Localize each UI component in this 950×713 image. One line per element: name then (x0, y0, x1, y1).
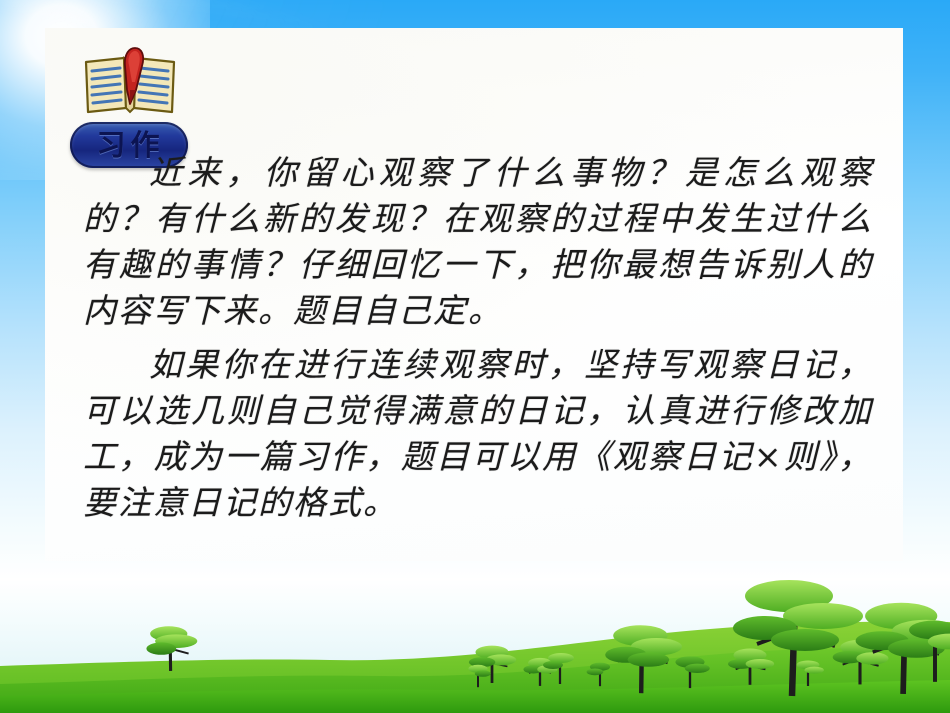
slide-canvas: 习作 近来，你留心观察了什么事物？是怎么观察的？有什么新的发现？在观察的过程中发… (0, 0, 950, 713)
paragraph-1: 近来，你留心观察了什么事物？是怎么观察的？有什么新的发现？在观察的过程中发生过什… (83, 150, 873, 334)
hill-near (0, 680, 950, 713)
paragraph-2: 如果你在进行连续观察时，坚持写观察日记，可以选几则自己觉得满意的日记，认真进行修… (83, 342, 873, 526)
tree-item (543, 653, 574, 684)
tree-item (146, 626, 197, 671)
tree-item (856, 603, 950, 694)
tree-item (605, 625, 682, 693)
landscape-decoration (0, 538, 950, 713)
tree-item (469, 646, 516, 683)
tree-item (587, 663, 611, 687)
tree-item (468, 665, 490, 687)
tree-item (733, 580, 863, 696)
tree-group (146, 580, 950, 696)
tree-item (833, 640, 889, 685)
tree-item (675, 656, 709, 688)
lesson-text-body: 近来，你留心观察了什么事物？是怎么观察的？有什么新的发现？在观察的过程中发生过什… (83, 150, 873, 532)
open-book-icon (80, 46, 180, 120)
hill-mid (0, 648, 950, 713)
tree-item (728, 649, 774, 685)
content-panel: 习作 近来，你留心观察了什么事物？是怎么观察的？有什么新的发现？在观察的过程中发… (45, 28, 903, 561)
tree-item (909, 621, 950, 682)
tree-item (797, 660, 824, 686)
hill-far (0, 622, 950, 713)
tree-item (523, 658, 557, 686)
